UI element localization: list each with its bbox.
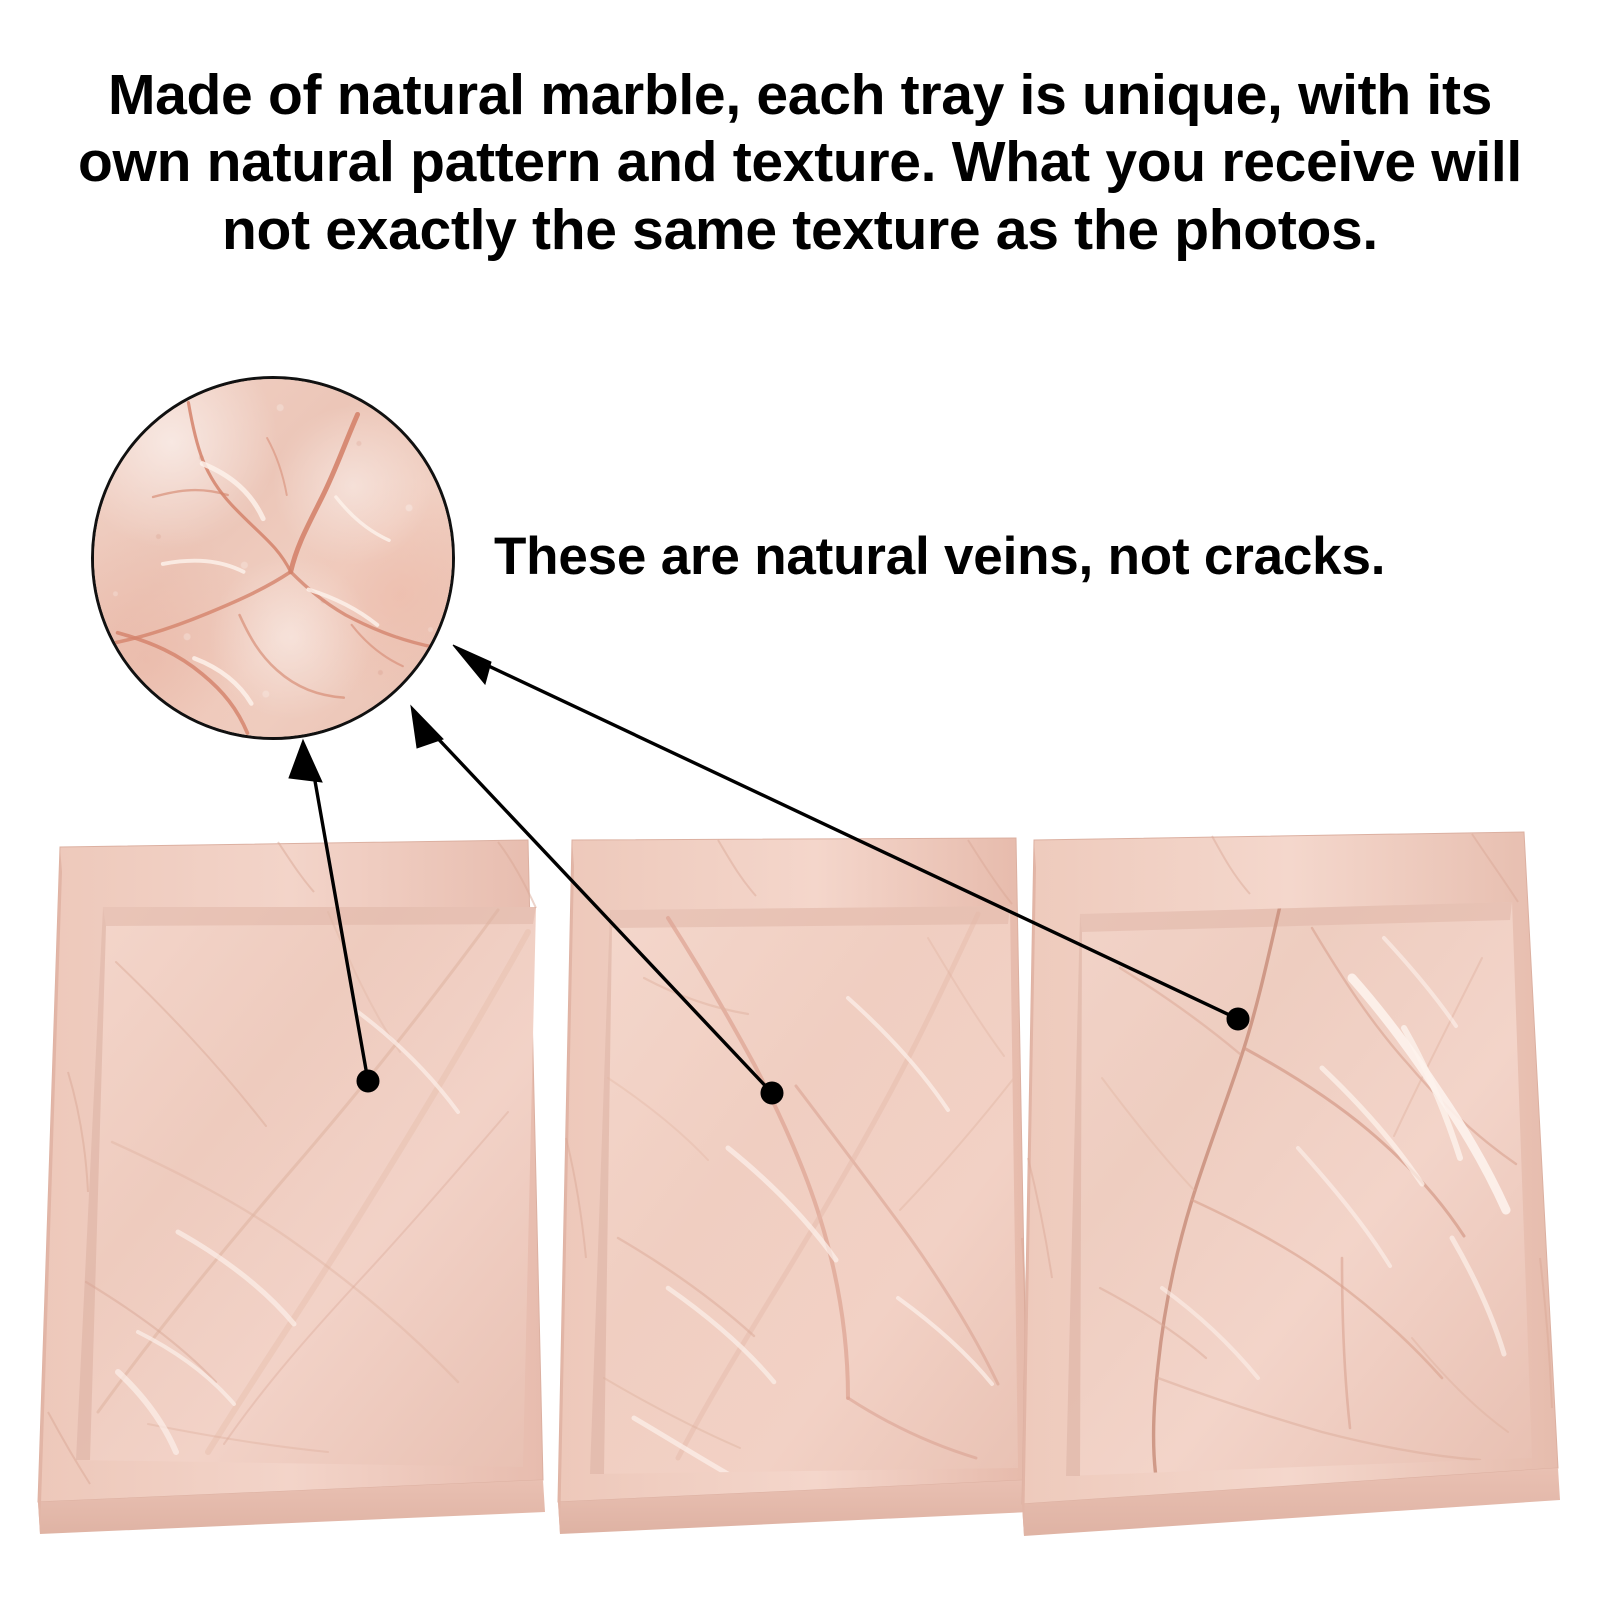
- tray-inner-floor: [590, 906, 1018, 1474]
- magnifier-veins-icon: [94, 379, 452, 737]
- arrowhead-icon: [453, 645, 491, 684]
- tray-inner-floor: [1066, 902, 1532, 1476]
- magnifier-circle: [91, 376, 455, 740]
- product-infographic: Made of natural marble, each tray is uni…: [0, 0, 1600, 1600]
- tray-center: [548, 818, 1048, 1554]
- tray-left: [28, 812, 558, 1552]
- arrowhead-icon: [289, 740, 322, 782]
- callout-label: These are natural veins, not cracks.: [494, 528, 1385, 586]
- tray-right: [1012, 818, 1582, 1558]
- page-title: Made of natural marble, each tray is uni…: [60, 62, 1540, 264]
